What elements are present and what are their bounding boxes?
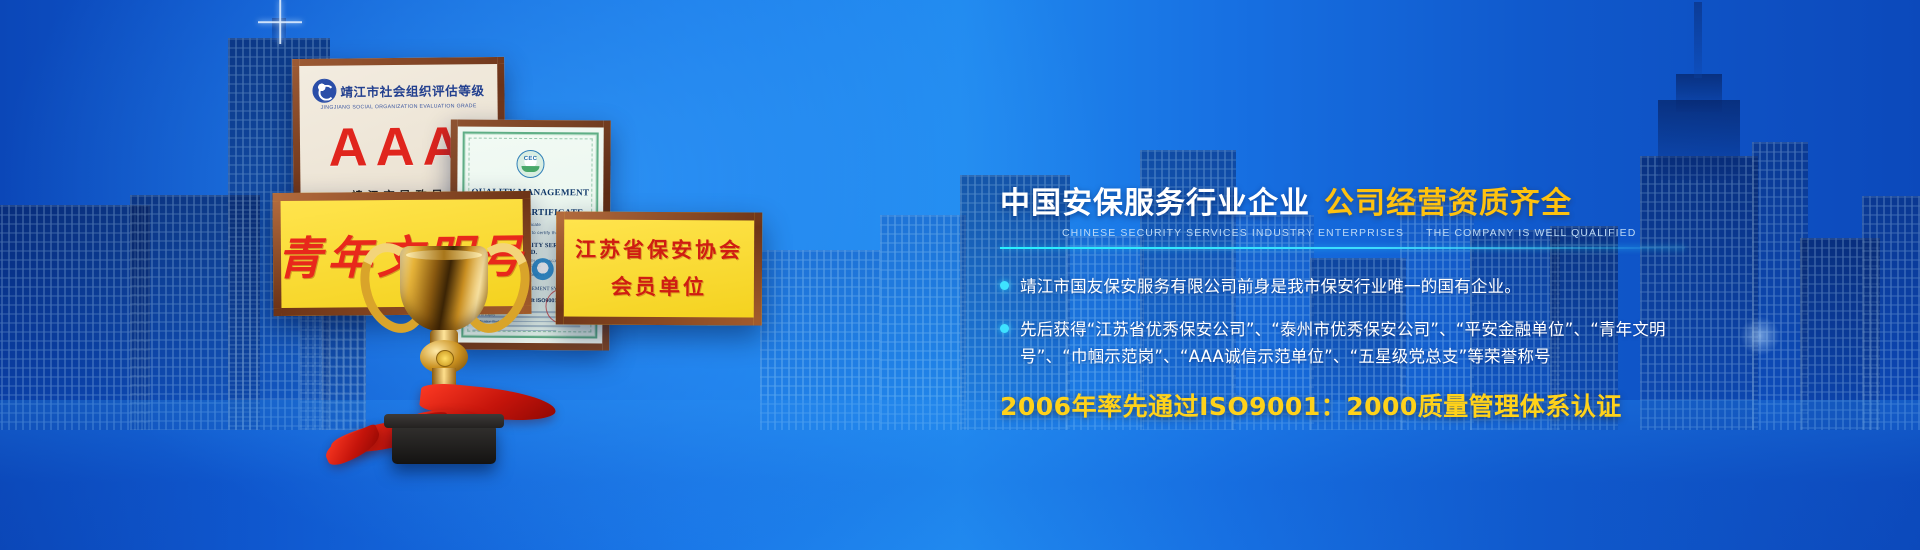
- subtitle-row: CHINESE SECURITY SERVICES INDUSTRY ENTER…: [1062, 227, 1700, 239]
- building-landmark-crown: [1658, 100, 1740, 180]
- bullet-dot-icon: [1000, 281, 1009, 290]
- plaque-right-line2: 会员单位: [611, 268, 707, 305]
- trophy-base: [392, 424, 496, 464]
- list-item: 靖江市国友保安服务有限公司前身是我市保安行业唯一的国有企业。: [1000, 273, 1700, 300]
- cec-logo-icon: [516, 150, 544, 178]
- headline-accent: 公司经营资质齐全: [1324, 178, 1572, 222]
- subtitle-main: CHINESE SECURITY SERVICES INDUSTRY ENTER…: [1062, 227, 1404, 239]
- building: [1862, 196, 1920, 430]
- plaque-jiangsu-security-association: 江苏省保安协会 会员单位: [556, 211, 763, 325]
- bullet-text: 先后获得“江苏省优秀保安公司”、“泰州市优秀保安公司”、“平安金融单位”、“青年…: [1020, 316, 1700, 370]
- promo-banner: 靖江市社会组织评估等级 JINGJIANG SOCIAL ORGANIZATIO…: [0, 0, 1920, 550]
- building-landmark-top: [1676, 74, 1722, 112]
- aaa-org-cn: 靖江市社会组织评估等级: [340, 80, 484, 101]
- headline-main: 中国安保服务行业企业: [1000, 178, 1310, 222]
- bullet-list: 靖江市国友保安服务有限公司前身是我市保安行业唯一的国有企业。 先后获得“江苏省优…: [1000, 273, 1700, 371]
- subtitle-accent: THE COMPANY IS WELL QUALIFIED: [1426, 227, 1636, 239]
- jingjiang-emblem-icon: [312, 79, 336, 103]
- bullet-text: 靖江市国友保安服务有限公司前身是我市保安行业唯一的国有企业。: [1020, 273, 1521, 300]
- aaa-org-en: JINGJIANG SOCIAL ORGANIZATION EVALUATION…: [300, 103, 498, 111]
- certificates-group: 靖江市社会组织评估等级 JINGJIANG SOCIAL ORGANIZATIO…: [0, 0, 980, 550]
- aaa-header: 靖江市社会组织评估等级: [299, 77, 497, 103]
- bullet-dot-icon: [1000, 324, 1009, 333]
- headline-row: 中国安保服务行业企业 公司经营资质齐全: [1000, 178, 1700, 222]
- building-spire: [1694, 2, 1702, 78]
- divider-line: [1000, 247, 1685, 249]
- highlight-certification: 2006年率先通过ISO9001：2000质量管理体系认证: [1000, 387, 1700, 423]
- plaque-right-line1: 江苏省保安协会: [575, 231, 743, 269]
- trophy-cup: [400, 246, 488, 332]
- gold-trophy: [340, 236, 550, 476]
- list-item: 先后获得“江苏省优秀保安公司”、“泰州市优秀保安公司”、“平安金融单位”、“青年…: [1000, 316, 1700, 370]
- info-panel: 中国安保服务行业企业 公司经营资质齐全 CHINESE SECURITY SER…: [1000, 178, 1700, 423]
